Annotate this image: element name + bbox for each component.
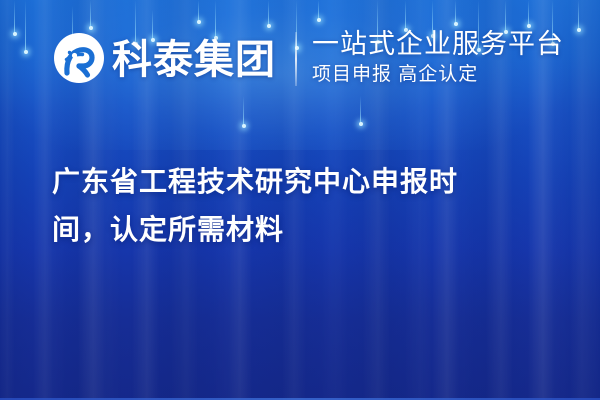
banner-header: 科泰集团 一站式企业服务平台 项目申报 高企认定 [0,24,600,94]
page-title-line-2: 间，认定所需材料 [52,206,562,254]
brand-name: 科泰集团 [112,38,276,82]
page-title-line-1: 广东省工程技术研究中心申报时 [52,158,562,206]
tagline-main: 一站式企业服务平台 [312,27,572,61]
tagline-sub: 项目申报 高企认定 [312,62,572,88]
page-title: 广东省工程技术研究中心申报时 间，认定所需材料 [52,158,562,254]
header-divider [295,32,297,86]
promo-banner: 科泰集团 一站式企业服务平台 项目申报 高企认定 广东省工程技术研究中心申报时 … [0,0,600,400]
ketai-group-logo-icon [53,32,105,84]
tagline-block: 一站式企业服务平台 项目申报 高企认定 [312,27,572,88]
